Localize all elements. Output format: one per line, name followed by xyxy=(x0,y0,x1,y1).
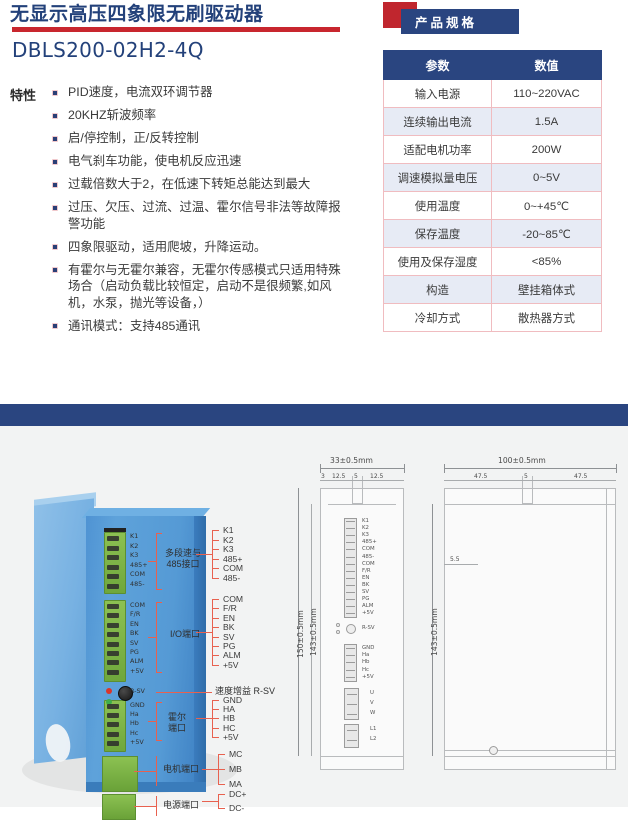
list-item: PID速度，电流双环调节器 xyxy=(52,84,352,101)
device-pin-label: K1 xyxy=(130,532,138,540)
side-view-right-inner xyxy=(606,488,607,770)
fanout-tick xyxy=(218,754,225,755)
device-pin-label: GND xyxy=(130,701,145,709)
side-view-base-line xyxy=(444,756,616,757)
terminal-pin xyxy=(107,722,119,727)
spec-parameter-cell: 输入电源 xyxy=(384,80,492,108)
device-pin-label: PG xyxy=(130,648,139,656)
front-view-pin-slot xyxy=(346,571,355,572)
fanout-stem xyxy=(196,632,212,633)
fanout-tick xyxy=(212,700,219,701)
product-photo-with-callouts: K1K2K3485+COM485-多段速与485接口K1K2K3485+COM4… xyxy=(8,456,288,806)
led-red-icon xyxy=(106,688,112,694)
terminal-pin xyxy=(107,546,119,551)
spec-value-cell: <85% xyxy=(492,248,602,276)
specification-column: 产品规格 参数 数值 输入电源110~220VAC连续输出电流1.5A适配电机功… xyxy=(383,0,618,40)
fanout-tick xyxy=(212,599,219,600)
front-view-pin-label: K2 xyxy=(362,525,369,531)
fanout-tick xyxy=(212,627,219,628)
bullet-icon xyxy=(52,159,58,165)
device-pin-label: ALM xyxy=(130,657,143,665)
callout-bracket-tick xyxy=(156,672,162,673)
table-row: 连续输出电流1.5A xyxy=(384,108,602,136)
fanout-tick xyxy=(212,718,219,719)
front-notch-bottom xyxy=(352,503,362,504)
bullet-icon xyxy=(52,90,58,96)
spec-value-cell: 110~220VAC xyxy=(492,80,602,108)
table-header-row: 参数 数值 xyxy=(384,51,602,80)
front-view-motor-label: U xyxy=(370,690,374,696)
terminal-pin xyxy=(107,555,119,560)
table-row: 调速模拟量电压0~5V xyxy=(384,164,602,192)
table-row: 适配电机功率200W xyxy=(384,136,602,164)
front-view-pin-label: EN xyxy=(362,575,369,581)
fanout-stem xyxy=(202,769,218,770)
front-view-pin-slot xyxy=(346,613,355,614)
feature-text: 四象限驱动，适用爬坡，升降运动。 xyxy=(68,240,266,254)
fanout-pin-label: DC- xyxy=(229,803,244,813)
device-pin-label: Ha xyxy=(130,710,139,718)
specification-table: 参数 数值 输入电源110~220VAC连续输出电流1.5A适配电机功率200W… xyxy=(383,50,602,332)
fanout-tick xyxy=(218,784,225,785)
terminal-pin xyxy=(107,704,119,709)
front-view-motor-label: W xyxy=(370,710,375,716)
fanout-stem xyxy=(202,801,218,802)
fanout-tick xyxy=(212,646,219,647)
front-view-hall-slot xyxy=(346,662,355,663)
pot-callout-label: 速度增益 R-SV xyxy=(215,686,275,697)
spec-banner-title: 产品规格 xyxy=(401,9,519,34)
front-view-power-label: L2 xyxy=(370,736,376,742)
table-row: 使用温度0~+45℃ xyxy=(384,192,602,220)
front-view-led-icon xyxy=(336,623,340,627)
side-width-tick-left xyxy=(444,464,445,473)
callout-bracket-tick xyxy=(156,702,162,703)
front-view-hall-label: +5V xyxy=(362,674,374,680)
fanout-tick xyxy=(212,655,219,656)
feature-text: 过压、欠压、过流、过温、霍尔信号非法等故障报警功能 xyxy=(68,200,341,231)
callout-stem xyxy=(148,637,156,638)
fanout-pin-label: K2 xyxy=(223,535,234,545)
device-pin-label: Hc xyxy=(130,729,138,737)
feature-text: 过载倍数大于2，在低速下转矩总能达到最大 xyxy=(68,177,310,191)
spec-value-cell: -20~85℃ xyxy=(492,220,602,248)
device-pin-label: K2 xyxy=(130,542,138,550)
fanout-pin-label: MC xyxy=(229,749,242,759)
spec-value-cell: 0~+45℃ xyxy=(492,192,602,220)
front-view-base-line xyxy=(320,756,404,757)
terminal-pin xyxy=(107,574,119,579)
front-width-tick-left xyxy=(320,464,321,473)
callout-label: 电机端口 xyxy=(163,764,199,775)
spec-value-cell: 0~5V xyxy=(492,164,602,192)
front-subdim-3: 5 xyxy=(354,473,358,480)
front-view-pin-slot xyxy=(346,521,355,522)
side-subdim-3: 47.5 xyxy=(574,473,587,480)
bullet-icon xyxy=(52,205,58,211)
fanout-pin-label: COM xyxy=(223,563,243,573)
side-mount-hole-icon xyxy=(489,746,498,755)
spec-value-cell: 1.5A xyxy=(492,108,602,136)
device-pin-label: BK xyxy=(130,629,139,637)
fanout-pin-label: MA xyxy=(229,779,242,789)
table-row: 使用及保存湿度<85% xyxy=(384,248,602,276)
fanout-tick xyxy=(212,559,219,560)
front-view-motor-label: V xyxy=(370,700,374,706)
section-divider-band xyxy=(0,404,628,426)
fanout-stem xyxy=(196,718,212,719)
callout-bracket xyxy=(156,702,157,740)
callout-label-line: 电源端口 xyxy=(163,800,199,811)
terminal-pin xyxy=(107,632,119,637)
front-view-pin-label: SV xyxy=(362,589,369,595)
callout-label: 电源端口 xyxy=(163,800,199,811)
front-view-pin-slot xyxy=(346,592,355,593)
feature-text: 20KHZ斩波频率 xyxy=(68,108,156,122)
fanout-tick xyxy=(212,637,219,638)
fanout-bracket xyxy=(212,530,213,578)
feature-text: 有霍尔与无霍尔兼容，无霍尔传感模式只适用特殊场合（启动负载比较恒定，启动不是很频… xyxy=(68,263,341,310)
front-view-hall-slot xyxy=(346,677,355,678)
fanout-tick xyxy=(212,530,219,531)
fanout-tick xyxy=(212,728,219,729)
front-view-motor-slot xyxy=(347,694,357,695)
product-detail-section: K1K2K3485+COM485-多段速与485接口K1K2K3485+COM4… xyxy=(0,426,628,807)
front-view-motor-slot xyxy=(347,704,357,705)
front-height-outer-text: 150±0.5mm xyxy=(296,610,305,658)
front-view-pin-slot xyxy=(346,564,355,565)
list-item: 通讯模式：支持485通讯 xyxy=(52,318,352,335)
terminal-pin xyxy=(107,732,119,737)
front-view-pin-label: COM xyxy=(362,561,375,567)
list-item: 电气刹车功能，使电机反应迅速 xyxy=(52,153,352,170)
fanout-tick xyxy=(218,769,225,770)
bullet-icon xyxy=(52,182,58,188)
front-view-pin-slot xyxy=(346,535,355,536)
bullet-icon xyxy=(52,267,58,273)
spec-parameter-cell: 保存温度 xyxy=(384,220,492,248)
callout-bracket-tick xyxy=(156,740,162,741)
front-view-pin-label: +5V xyxy=(362,610,374,616)
side-mount-line xyxy=(444,750,616,751)
callout-bracket-tick xyxy=(156,589,162,590)
callout-bracket xyxy=(156,533,157,589)
fanout-tick xyxy=(212,618,219,619)
feature-list: PID速度，电流双环调节器 20KHZ斩波频率 启/停控制，正/反转控制 电气刹… xyxy=(52,84,352,341)
front-view-hall-slot xyxy=(346,648,355,649)
terminal-pin xyxy=(107,613,119,618)
side-offset-dim-line xyxy=(444,564,478,565)
device-pin-label: SV xyxy=(130,639,138,647)
fanout-tick xyxy=(218,794,225,795)
features-label: 特性 xyxy=(10,85,36,104)
bullet-icon xyxy=(52,136,58,142)
bullet-icon xyxy=(52,323,58,329)
device-pin-label: F/R xyxy=(130,610,140,618)
front-view-pin-label: ALM xyxy=(362,603,373,609)
front-subdim-line xyxy=(320,480,404,481)
terminal-pin xyxy=(107,670,119,675)
side-view-inner-line xyxy=(444,504,616,505)
callout-stem xyxy=(134,771,156,772)
product-overview-section: 无显示高压四象限无刷驱动器 DBLS200-02H2-4Q 特性 PID速度，电… xyxy=(0,0,628,395)
callout-label-line: 霍尔 xyxy=(168,712,186,723)
table-row: 冷却方式散热器方式 xyxy=(384,304,602,332)
terminal-pin xyxy=(107,536,119,541)
front-view-pin-slot xyxy=(346,557,355,558)
fanout-tick xyxy=(218,808,225,809)
front-view-pin-slot xyxy=(346,528,355,529)
front-view-inner-line xyxy=(328,504,396,505)
front-view-pin-label: F/R xyxy=(362,568,371,574)
feature-text: 启/停控制，正/反转控制 xyxy=(68,131,199,145)
front-view-pin-label: COM xyxy=(362,546,375,552)
callout-label: 多段速与485接口 xyxy=(165,548,201,570)
bullet-icon xyxy=(52,244,58,250)
list-item: 有霍尔与无霍尔兼容，无霍尔传感模式只适用特殊场合（启动负载比较恒定，启动不是很频… xyxy=(52,262,352,312)
fanout-pin-label: DC+ xyxy=(229,789,246,799)
terminal-block-power xyxy=(102,794,136,820)
front-view-pin-label: K1 xyxy=(362,518,369,524)
terminal-pin xyxy=(107,651,119,656)
pot-callout-line xyxy=(156,692,212,693)
side-height-dim-text: 143±0.5mm xyxy=(430,608,439,656)
front-subdim-2: 12.5 xyxy=(332,473,345,480)
list-item: 20KHZ斩波频率 xyxy=(52,107,352,124)
fanout-tick xyxy=(212,737,219,738)
front-height-inner-text: 143±0.5mm xyxy=(309,608,318,656)
device-pot-label: R-SV xyxy=(130,687,145,695)
spec-parameter-cell: 构造 xyxy=(384,276,492,304)
column-header-value: 数值 xyxy=(492,51,602,80)
front-view-pin-label: K3 xyxy=(362,532,369,538)
terminal-pin xyxy=(107,584,119,589)
front-width-dim-text: 33±0.5mm xyxy=(330,456,373,465)
fanout-stem xyxy=(196,554,212,555)
list-item: 过压、欠压、过流、过温、霍尔信号非法等故障报警功能 xyxy=(52,199,352,232)
front-view-hall-slot xyxy=(346,655,355,656)
callout-label-line: 电机端口 xyxy=(163,764,199,775)
device-pin-label: +5V xyxy=(130,667,144,675)
device-pin-label: K3 xyxy=(130,551,138,559)
table-row: 输入电源110~220VAC xyxy=(384,80,602,108)
device-pin-label: Hb xyxy=(130,719,139,727)
front-view-terminal-strip xyxy=(344,518,357,618)
specification-table-body: 输入电源110~220VAC连续输出电流1.5A适配电机功率200W调速模拟量电… xyxy=(384,80,602,332)
callout-label-line: 端口 xyxy=(168,723,186,734)
front-view-motor-slot xyxy=(347,714,357,715)
list-item: 四象限驱动，适用爬坡，升降运动。 xyxy=(52,239,352,256)
side-notch-bottom xyxy=(522,503,532,504)
front-view-power-label: L1 xyxy=(370,726,376,732)
front-view-pin-slot xyxy=(346,585,355,586)
fanout-tick xyxy=(212,568,219,569)
fanout-pin-label: 485- xyxy=(223,573,240,583)
callout-bracket xyxy=(156,602,157,672)
side-width-tick-right xyxy=(616,464,617,473)
terminal-pin xyxy=(107,741,119,746)
front-view-hall-label: Hc xyxy=(362,667,369,673)
callout-stem xyxy=(148,561,156,562)
front-view-pot-icon xyxy=(346,624,356,634)
front-view-pin-slot xyxy=(346,599,355,600)
front-view-pin-label: BK xyxy=(362,582,369,588)
callout-bracket xyxy=(156,756,157,786)
callout-bracket-tick xyxy=(156,533,162,534)
terminal-pin xyxy=(107,623,119,628)
front-view-hall-label: Ha xyxy=(362,652,369,658)
table-row: 构造壁挂箱体式 xyxy=(384,276,602,304)
fanout-pin-label: K3 xyxy=(223,544,234,554)
front-view-pin-slot xyxy=(346,542,355,543)
column-header-parameter: 参数 xyxy=(384,51,492,80)
fanout-pin-label: +5V xyxy=(223,660,239,670)
spec-parameter-cell: 调速模拟量电压 xyxy=(384,164,492,192)
side-view-body xyxy=(444,488,616,770)
spec-header: 产品规格 xyxy=(383,0,618,40)
front-width-tick-right xyxy=(404,464,405,473)
terminal-pin xyxy=(107,660,119,665)
device-pin-label: 485- xyxy=(130,580,145,588)
spec-value-cell: 壁挂箱体式 xyxy=(492,276,602,304)
device-pin-label: COM xyxy=(130,570,145,578)
front-subdim-1: 3 xyxy=(321,473,325,480)
device-back-panel xyxy=(34,498,94,763)
terminal-pin xyxy=(107,713,119,718)
callout-label-line: I/O端口 xyxy=(170,629,200,640)
callout-bracket xyxy=(156,796,157,816)
spec-parameter-cell: 适配电机功率 xyxy=(384,136,492,164)
front-view-pin-slot xyxy=(346,578,355,579)
callout-label: I/O端口 xyxy=(170,629,200,640)
device-pin-label: EN xyxy=(130,620,139,628)
device-pin-label: +5V xyxy=(130,738,144,746)
side-subdim-1: 47.5 xyxy=(474,473,487,480)
side-subdim-line xyxy=(444,480,616,481)
title-underline xyxy=(12,27,340,32)
front-view-led-icon xyxy=(336,630,340,634)
title-block: 无显示高压四象限无刷驱动器 xyxy=(10,4,264,26)
fanout-tick xyxy=(212,578,219,579)
fanout-tick xyxy=(212,709,219,710)
front-view-power-slot xyxy=(347,730,357,731)
front-view-pin-label: 485- xyxy=(362,554,374,560)
device-pin-label: 485+ xyxy=(130,561,148,569)
front-view-hall-slot xyxy=(346,670,355,671)
table-row: 保存温度-20~85℃ xyxy=(384,220,602,248)
spec-value-cell: 散热器方式 xyxy=(492,304,602,332)
fanout-pin-label: 485+ xyxy=(223,554,242,564)
spec-parameter-cell: 使用温度 xyxy=(384,192,492,220)
spec-parameter-cell: 使用及保存湿度 xyxy=(384,248,492,276)
feature-text: 通讯模式：支持485通讯 xyxy=(68,319,200,333)
front-view-pin-label: 485+ xyxy=(362,539,377,545)
callout-label: 霍尔端口 xyxy=(168,712,186,734)
front-view-hall-label: GND xyxy=(362,645,374,651)
callout-stem xyxy=(148,721,156,722)
side-width-dim-line xyxy=(444,468,616,469)
spec-value-cell: 200W xyxy=(492,136,602,164)
feature-text: 电气刹车功能，使电机反应迅速 xyxy=(68,154,241,168)
terminal-pin xyxy=(107,642,119,647)
terminal-pin xyxy=(107,604,119,609)
fanout-bracket xyxy=(218,794,219,808)
callout-label-line: 485接口 xyxy=(165,559,201,570)
terminal-pin xyxy=(107,565,119,570)
front-view-power-slot xyxy=(347,740,357,741)
front-view-power-strip xyxy=(344,724,359,748)
engineering-drawings: 33±0.5mm 3 12.5 5 12.5 150±0.5mm 143±0.5… xyxy=(292,446,624,806)
front-subdim-4: 12.5 xyxy=(370,473,383,480)
fanout-tick xyxy=(212,549,219,550)
feature-text: PID速度，电流双环调节器 xyxy=(68,85,213,99)
page-title: 无显示高压四象限无刷驱动器 xyxy=(10,4,264,26)
callout-bracket-tick xyxy=(156,602,162,603)
list-item: 启/停控制，正/反转控制 xyxy=(52,130,352,147)
side-offset-dim-text: 5.5 xyxy=(450,556,460,563)
front-view-pin-label: PG xyxy=(362,596,369,602)
fanout-tick xyxy=(212,665,219,666)
fanout-tick xyxy=(212,608,219,609)
spec-parameter-cell: 连续输出电流 xyxy=(384,108,492,136)
front-view-pin-slot xyxy=(346,549,355,550)
front-view-pin-slot xyxy=(346,606,355,607)
terminal-block-motor xyxy=(102,756,138,792)
side-subdim-2: 5 xyxy=(524,473,528,480)
model-number: DBLS200-02H2-4Q xyxy=(12,38,204,62)
list-item: 过载倍数大于2，在低速下转矩总能达到最大 xyxy=(52,176,352,193)
left-column: 无显示高压四象限无刷驱动器 DBLS200-02H2-4Q 特性 PID速度，电… xyxy=(0,0,368,395)
front-view-hall-label: Hb xyxy=(362,659,369,665)
fanout-pin-label: K1 xyxy=(223,525,234,535)
fanout-tick xyxy=(212,540,219,541)
fanout-pin-label: +5V xyxy=(223,732,239,742)
spec-parameter-cell: 冷却方式 xyxy=(384,304,492,332)
front-width-dim-line xyxy=(320,468,404,469)
fanout-pin-label: MB xyxy=(229,764,242,774)
front-view-pot-label: R-SV xyxy=(362,625,375,631)
device-pin-label: COM xyxy=(130,601,145,609)
bullet-icon xyxy=(52,113,58,119)
side-width-dim-text: 100±0.5mm xyxy=(498,456,546,465)
